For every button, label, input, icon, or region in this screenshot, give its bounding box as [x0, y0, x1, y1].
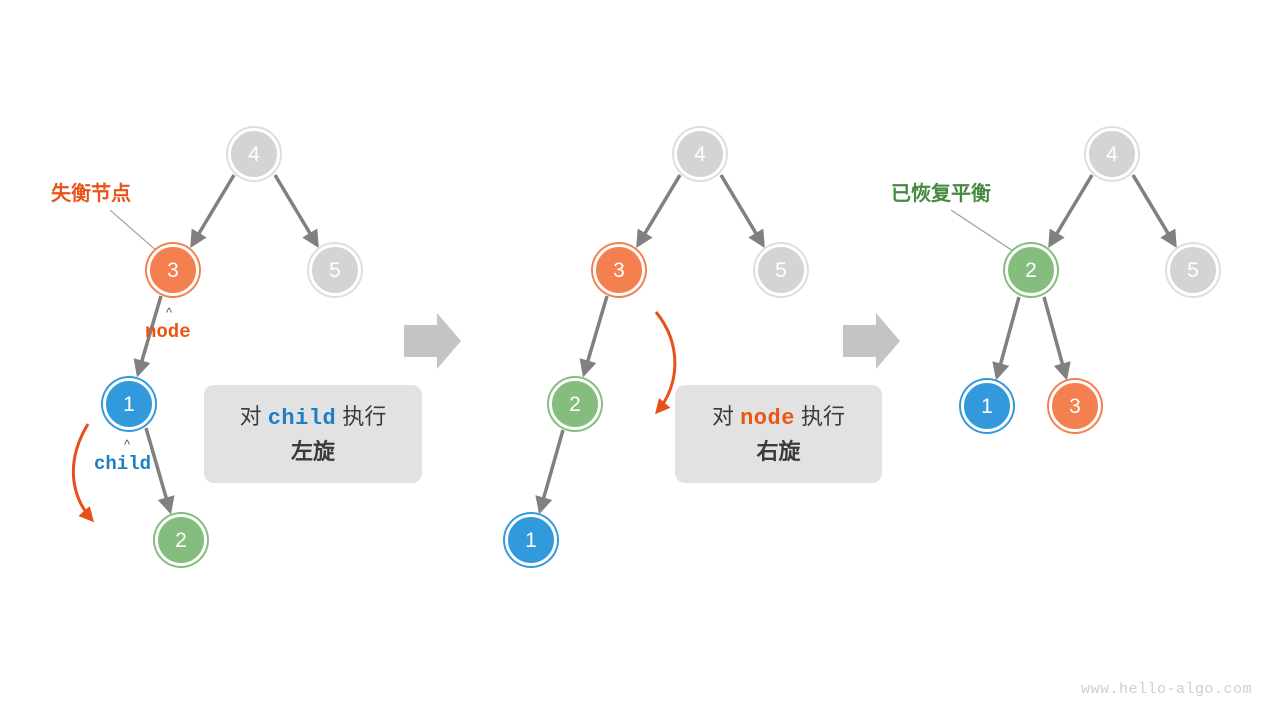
tree-node-5-mid[interactable]: 5: [755, 244, 807, 296]
tree-node-5-after[interactable]: 5: [1167, 244, 1219, 296]
watermark: www.hello-algo.com: [1081, 681, 1252, 698]
tree-node-3-unbalanced[interactable]: 3: [147, 244, 199, 296]
edge-3-to-2-mid: [584, 296, 607, 374]
rebalanced-label: 已恢复平衡: [891, 177, 991, 206]
edge-4-to-5-after: [1133, 175, 1175, 245]
child-variable-label: child: [94, 453, 151, 475]
callout-line-rebalanced: [951, 210, 1016, 253]
callout-right-rotation-line1: 对 node 执行: [712, 400, 845, 435]
tree-node-4[interactable]: 4: [228, 128, 280, 180]
unbalanced-node-label: 失衡节点: [51, 177, 131, 206]
rotation-arc-left: [73, 424, 92, 520]
tree-node-4-after[interactable]: 4: [1086, 128, 1138, 180]
rotation-arc-right: [656, 312, 675, 412]
tree-node-1-child[interactable]: 1: [103, 378, 155, 430]
step-arrow-1: [404, 313, 461, 369]
edge-4-to-5: [275, 175, 317, 245]
edge-4-to-3: [192, 175, 234, 245]
tree-node-2[interactable]: 2: [155, 514, 207, 566]
edge-2-to-1-mid: [540, 430, 563, 511]
callout-right-target: node: [740, 406, 795, 431]
callout-left-target: child: [268, 406, 337, 431]
edge-4-to-3-mid: [638, 175, 680, 245]
tree-node-2-rebalanced[interactable]: 2: [1005, 244, 1057, 296]
callout-right-prefix: 对: [712, 404, 734, 429]
child-pointer-caret: ^: [124, 437, 130, 452]
tree-node-1-after[interactable]: 1: [961, 380, 1013, 432]
tree-node-3-after[interactable]: 3: [1049, 380, 1101, 432]
tree-node-2-mid[interactable]: 2: [549, 378, 601, 430]
callout-right-rotation: 对 node 执行 右旋: [675, 385, 882, 483]
callout-left-suffix: 执行: [342, 404, 386, 429]
node-pointer-caret: ^: [166, 305, 172, 320]
node-variable-label: node: [145, 321, 191, 343]
edge-4-to-5-mid: [721, 175, 763, 245]
callout-left-rotation-line1: 对 child 执行: [240, 400, 387, 435]
tree-node-5[interactable]: 5: [309, 244, 361, 296]
step-arrow-2: [843, 313, 900, 369]
edge-2-to-3-after: [1044, 297, 1066, 377]
tree-node-1-mid[interactable]: 1: [505, 514, 557, 566]
callout-line-unbalanced: [110, 210, 158, 252]
callout-left-operation: 左旋: [291, 435, 335, 468]
diagram-canvas: [0, 0, 1280, 720]
edge-4-to-2-after: [1050, 175, 1092, 245]
callout-right-operation: 右旋: [756, 435, 800, 468]
callout-left-rotation: 对 child 执行 左旋: [204, 385, 422, 483]
tree-node-3-mid[interactable]: 3: [593, 244, 645, 296]
edge-2-to-1-after: [997, 297, 1019, 377]
tree-node-4-mid[interactable]: 4: [674, 128, 726, 180]
callout-left-prefix: 对: [240, 404, 262, 429]
callout-right-suffix: 执行: [801, 404, 845, 429]
